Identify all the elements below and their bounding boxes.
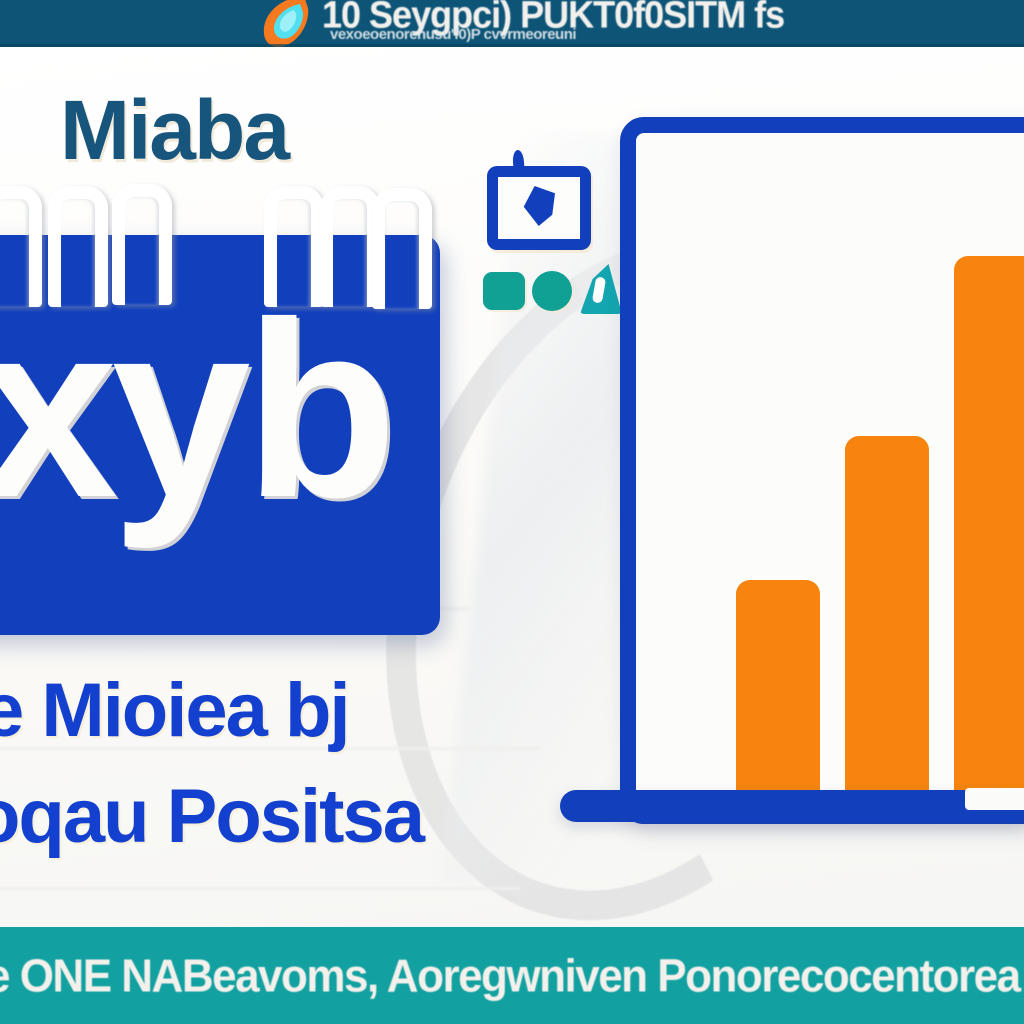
brand-droplet-icon xyxy=(258,0,320,47)
spiral-ring xyxy=(372,188,432,309)
footer-text: e ONE NABeavoms, Aoregwniven Ponorecocen… xyxy=(0,948,1024,1007)
caption-line-2: oqau Positsa xyxy=(0,778,423,856)
chart-bar xyxy=(845,436,929,808)
chart-bar xyxy=(954,256,1024,808)
spiral-ring xyxy=(264,186,324,307)
header-subtitle: vexoeoenorenusu'f0)P cvvrmeoreuni xyxy=(330,26,970,46)
chart-bar xyxy=(736,580,820,808)
footer-banner: e ONE NABeavoms, Aoregwniven Ponorecocen… xyxy=(0,927,1024,1024)
square-tile-icon[interactable] xyxy=(483,272,525,310)
circle-tile-icon[interactable] xyxy=(532,271,572,311)
poster-canvas: 10 Seygpci) PUKT0f0SITM fs vexoeoenorenu… xyxy=(0,0,1024,1024)
caption-line-1: e Mioiea bj xyxy=(0,672,349,750)
laptop-notch xyxy=(965,788,1024,810)
spiral-ring xyxy=(48,186,108,307)
monitor-icon[interactable] xyxy=(487,166,591,250)
paper-line xyxy=(0,887,520,890)
spiral-ring xyxy=(112,184,172,305)
bar-chart xyxy=(636,133,1024,808)
page-title: Miaba xyxy=(60,88,288,172)
notebook-label: xyb xyxy=(0,285,440,535)
laptop-screen xyxy=(620,117,1024,824)
diamond-shape-icon xyxy=(521,186,555,226)
spiral-ring xyxy=(0,186,42,307)
header-bar: 10 Seygpci) PUKT0f0SITM fs vexoeoenorenu… xyxy=(0,0,1024,47)
spiral-ring xyxy=(320,186,380,307)
laptop-base xyxy=(560,790,1024,822)
